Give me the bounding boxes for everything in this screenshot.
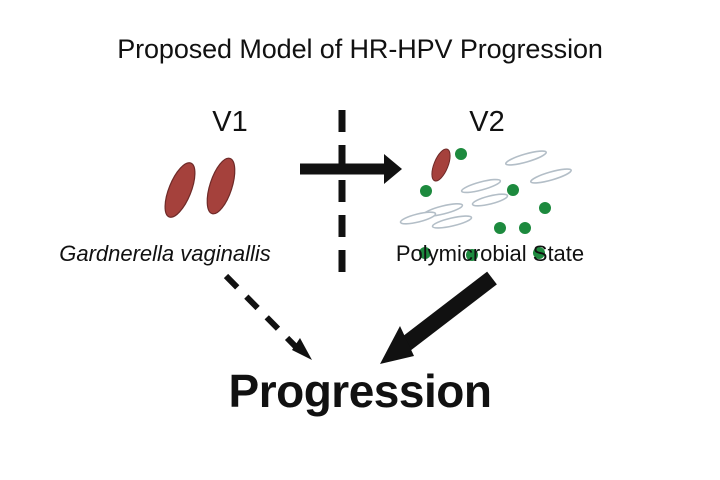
transition-arrow xyxy=(300,154,402,184)
stage-label-v2: V2 xyxy=(432,108,542,137)
caption-polymicrobial-state: Polymicrobial State xyxy=(360,243,620,265)
polymicrobial-red-rod xyxy=(428,147,454,184)
right-progression-bold-arrow xyxy=(380,278,492,364)
gardnerella-rod-1 xyxy=(159,159,201,221)
figure-canvas: Proposed Model of HR-HPV Progression V1 … xyxy=(0,0,720,480)
outcome-label-progression: Progression xyxy=(0,368,720,414)
stage-label-v1: V1 xyxy=(175,108,285,137)
gardnerella-rod-2 xyxy=(202,155,241,217)
figure-title: Proposed Model of HR-HPV Progression xyxy=(0,36,720,63)
caption-gardnerella-vaginallis: Gardnerella vaginallis xyxy=(0,243,330,265)
left-progression-dashed-arrow xyxy=(226,276,312,360)
v1-organism-group xyxy=(159,155,240,221)
